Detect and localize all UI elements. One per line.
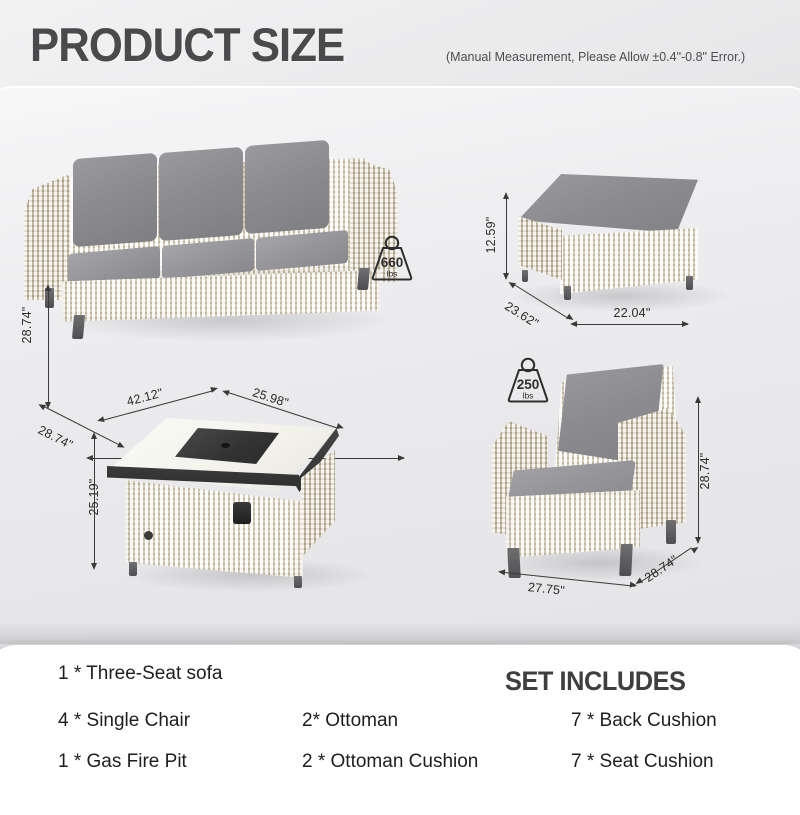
firepit-height-arrow-top (91, 432, 97, 439)
sofa-left-arm (24, 174, 70, 300)
product-ottoman: 12.59" 23.62" 22.04" (470, 160, 800, 350)
chair-width-arrow-left (498, 568, 506, 575)
firepit-side-knob[interactable] (144, 531, 153, 540)
ottoman-height-arrow-top (503, 192, 509, 199)
chair-height-arrow-top (695, 396, 701, 403)
chair-height-label: 28.74" (698, 441, 712, 501)
sofa-back-cushion-1 (73, 153, 157, 247)
ottoman-width-arrow-left (570, 321, 577, 327)
sofa-back-cushion-2 (159, 147, 243, 241)
firepit-width-arrow-start (96, 416, 104, 424)
chair-width-arrow-right (630, 582, 638, 589)
measurement-disclaimer: (Manual Measurement, Please Allow ±0.4"-… (446, 50, 745, 64)
ottoman-depth-arrow-start (507, 279, 516, 288)
ottoman-width-arrow-right (682, 321, 689, 327)
chair-weight-badge: 250 lbs (502, 356, 554, 404)
firepit-control-knob[interactable] (233, 502, 251, 524)
sofa-weight-unit: lbs (387, 269, 398, 279)
set-includes-panel: SET INCLUDES 1 * Three-Seat sofa 4 * Sin… (0, 645, 800, 815)
product-chair: 250 lbs 28.74" 28.74" 27.75" (470, 350, 800, 620)
ottoman-leg-back-left (522, 270, 528, 282)
product-firepit: 42.12" 25.98" 25.19" (85, 380, 425, 620)
firepit-height-label: 25.19" (87, 467, 101, 527)
chair-depth-arrow-end (691, 545, 700, 554)
firepit-width-arrow-end (210, 385, 218, 393)
firepit-body-right (301, 450, 335, 558)
ottoman-width-label: 22.04" (614, 306, 651, 320)
infographic-stage: PRODUCT SIZE (Manual Measurement, Please… (0, 0, 800, 800)
sofa-back-cushion-3 (245, 140, 329, 234)
ottoman-height-label: 12.59" (484, 205, 498, 265)
ottoman-leg-front-left (564, 286, 571, 300)
set-includes-item-6: 7 * Back Cushion (571, 710, 717, 732)
firepit-depth-arrow-start (221, 388, 230, 396)
sofa-height-line (48, 290, 49, 405)
header: PRODUCT SIZE (Manual Measurement, Please… (0, 0, 800, 88)
ottoman-height-line (506, 198, 507, 276)
set-includes-title: SET INCLUDES (505, 666, 686, 697)
firepit-height-arrow-bottom (91, 563, 97, 570)
product-sofa: 660 lbs 28.74" 28.74" 76.37" (0, 110, 440, 360)
sofa-weight-badge: 660 lbs (366, 234, 418, 282)
firepit-body-front (125, 480, 303, 578)
chair-width-label: 27.75" (527, 580, 565, 598)
ottoman-leg-front-right (686, 276, 693, 290)
sofa-leg-back-left (45, 288, 54, 308)
chair-weight-unit: lbs (523, 391, 534, 401)
sofa-leg-front-left (72, 315, 85, 339)
set-includes-item-4: 2* Ottoman (302, 710, 398, 732)
set-includes-item-7: 7 * Seat Cushion (571, 751, 714, 773)
sofa-height-label: 28.74" (20, 295, 34, 355)
chair-height-arrow-bottom (695, 537, 701, 544)
set-includes-item-5: 2 * Ottoman Cushion (302, 751, 478, 773)
firepit-foot-left (129, 562, 137, 576)
set-includes-item-3: 1 * Gas Fire Pit (58, 751, 187, 773)
chair-leg-front-right (619, 544, 633, 576)
chair-leg-back-right (666, 520, 676, 544)
ottoman-width-line (576, 324, 688, 325)
page-title: PRODUCT SIZE (30, 21, 344, 68)
firepit-depth-arrow-end (336, 423, 345, 431)
ottoman-height-arrow-bottom (503, 273, 509, 280)
set-includes-item-1: 1 * Three-Seat sofa (58, 663, 222, 685)
firepit-burner-port (221, 443, 230, 448)
firepit-foot-right (294, 576, 302, 588)
sofa-height-arrow-top (45, 284, 51, 291)
set-includes-item-2: 4 * Single Chair (58, 710, 190, 732)
